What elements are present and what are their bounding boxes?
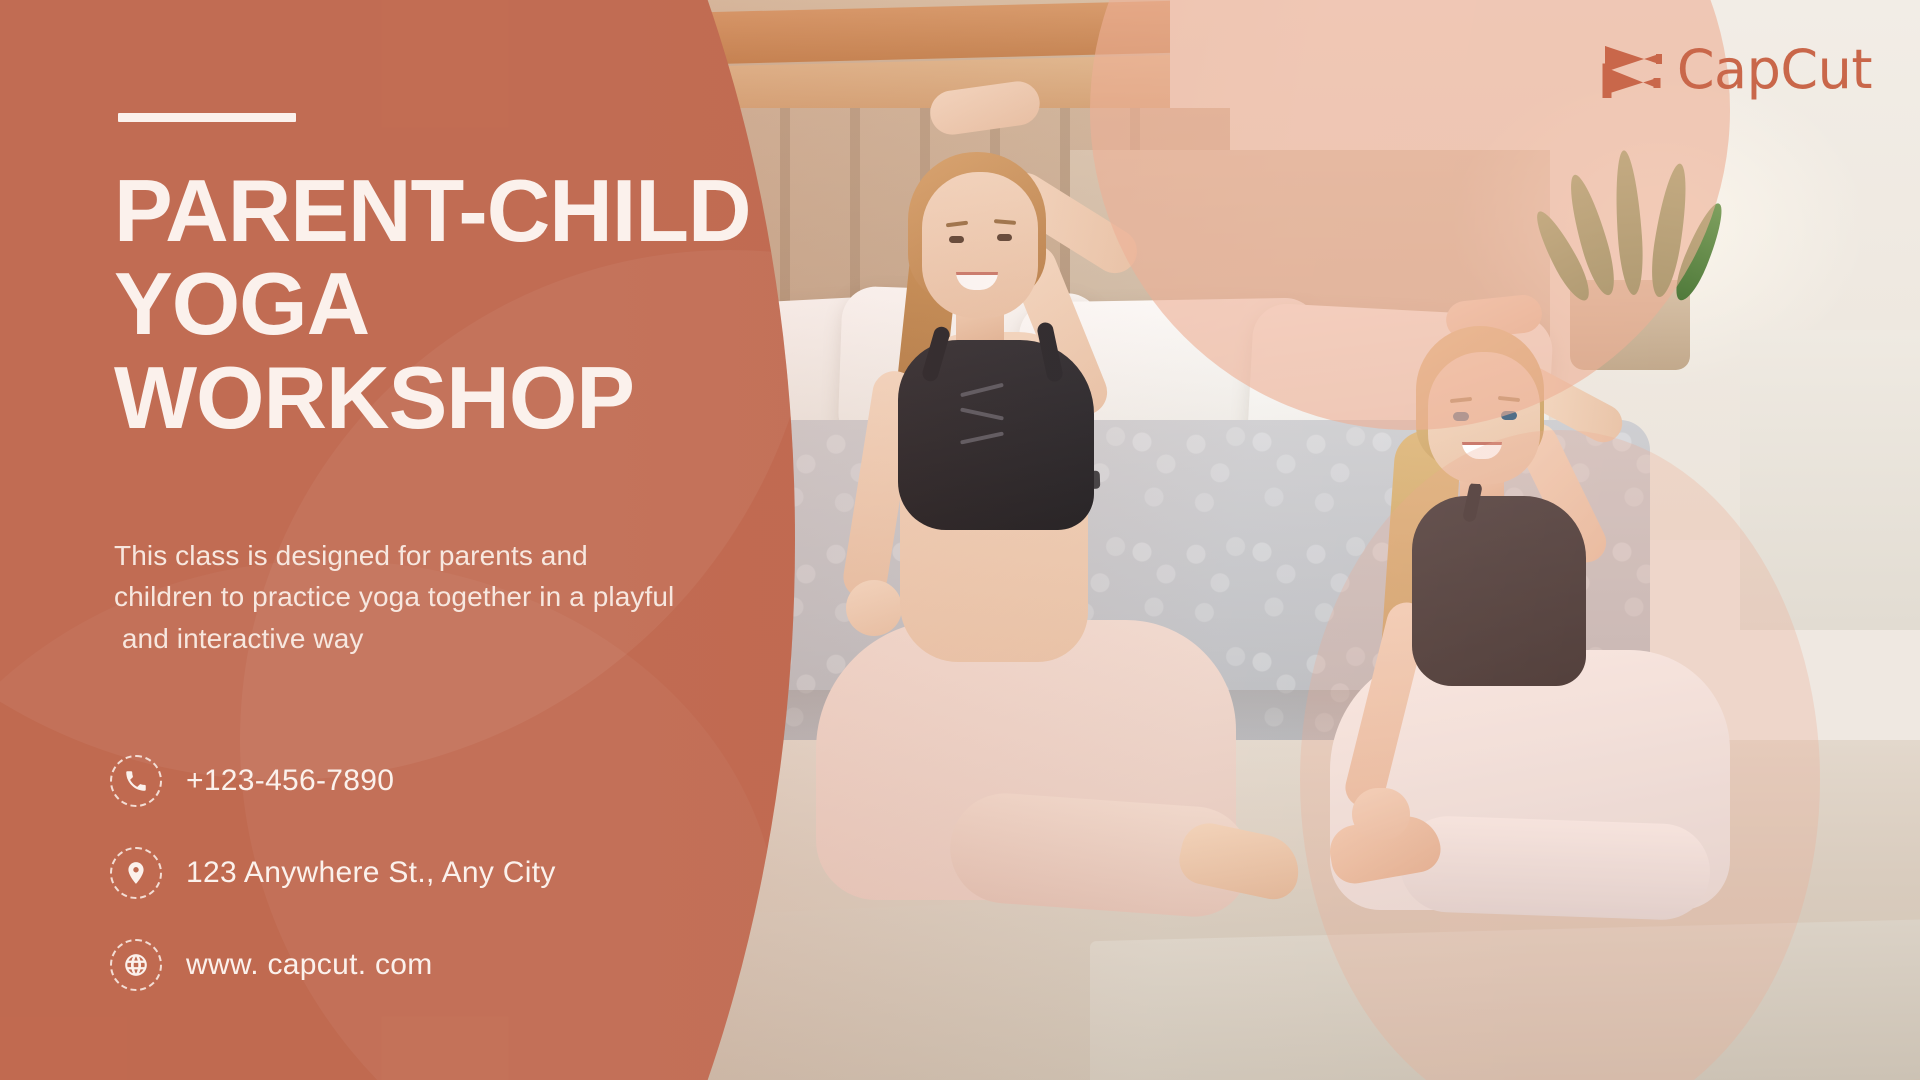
title-line: PARENT-CHILD: [114, 164, 874, 257]
contact-row-address[interactable]: 123 Anywhere St., Any City: [110, 837, 810, 909]
title-line: YOGA: [114, 257, 874, 350]
phone-icon: [110, 755, 162, 807]
title-line: WORKSHOP: [114, 351, 874, 444]
subtitle-line: and interactive way: [114, 618, 814, 659]
contact-label: www. capcut. com: [186, 948, 433, 982]
contact-row-website[interactable]: www. capcut. com: [110, 929, 810, 1001]
subtitle-line: This class is designed for parents and: [114, 535, 814, 576]
subtitle-line: children to practice yoga together in a …: [114, 576, 814, 617]
capcut-wordmark: CapCut: [1677, 38, 1872, 101]
capcut-logo[interactable]: CapCut: [1601, 38, 1872, 101]
poster-canvas: PARENT-CHILD YOGA WORKSHOP This class is…: [0, 0, 1920, 1080]
location-pin-icon: [110, 847, 162, 899]
contact-list: +123-456-7890 123 Anywhere St., Any City…: [110, 745, 810, 1021]
contact-row-phone[interactable]: +123-456-7890: [110, 745, 810, 817]
contact-label: +123-456-7890: [186, 764, 394, 798]
capcut-hourglass-icon: [1601, 42, 1663, 98]
poster-content: PARENT-CHILD YOGA WORKSHOP This class is…: [0, 0, 900, 1080]
globe-icon: [110, 939, 162, 991]
contact-label: 123 Anywhere St., Any City: [186, 856, 556, 890]
accent-rule: [118, 113, 296, 122]
page-title: PARENT-CHILD YOGA WORKSHOP: [114, 164, 874, 444]
subtitle: This class is designed for parents and c…: [114, 535, 814, 659]
